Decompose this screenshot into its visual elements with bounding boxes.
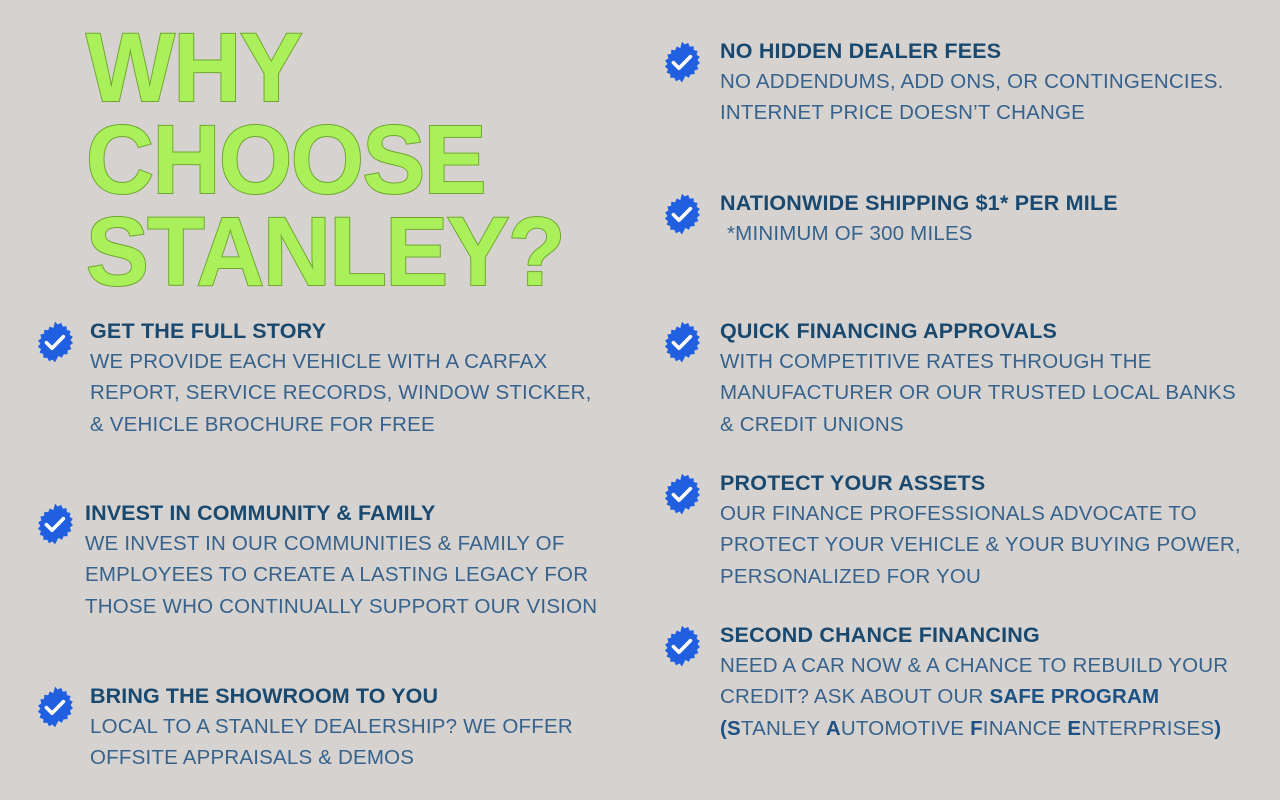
feature-nationwide-shipping: NATIONWIDE SHIPPING $1* PER MILE *MINIMU… — [660, 190, 1232, 249]
feature-heading: PROTECT YOUR ASSETS — [720, 470, 1250, 496]
feature-get-the-full-story: GET THE FULL STORY WE PROVIDE EACH VEHIC… — [33, 318, 603, 440]
feature-text: GET THE FULL STORY WE PROVIDE EACH VEHIC… — [77, 318, 603, 440]
feature-body: WE PROVIDE EACH VEHICLE WITH A CARFAX RE… — [90, 346, 603, 439]
feature-body-note: *MINIMUM OF 300 MILES — [720, 218, 973, 249]
page-title: WHY CHOOSE STANLEY? — [86, 22, 590, 298]
feature-text: NO HIDDEN DEALER FEES NO ADDENDUMS, ADD … — [704, 38, 1240, 129]
feature-heading: GET THE FULL STORY — [90, 318, 603, 344]
verified-check-badge-icon — [33, 320, 77, 364]
safe-acronym-text-3: INANCE — [983, 717, 1068, 740]
safe-acronym-text-1: TANLEY — [741, 717, 826, 740]
feature-text: NATIONWIDE SHIPPING $1* PER MILE *MINIMU… — [704, 190, 1232, 249]
feature-body: *MINIMUM OF 300 MILES — [720, 218, 1232, 249]
feature-quick-financing-approvals: QUICK FINANCING APPROVALS WITH COMPETITI… — [660, 318, 1250, 440]
headline-line-2: CHOOSE — [86, 114, 590, 206]
safe-acronym-part-5: ) — [1214, 717, 1221, 740]
feature-body: NO ADDENDUMS, ADD ONS, OR CONTINGENCIES.… — [720, 66, 1240, 128]
feature-text: QUICK FINANCING APPROVALS WITH COMPETITI… — [704, 318, 1250, 440]
feature-no-hidden-dealer-fees: NO HIDDEN DEALER FEES NO ADDENDUMS, ADD … — [660, 38, 1240, 129]
safe-acronym-text-4: NTERPRISES — [1081, 717, 1214, 740]
headline-line-3: STANLEY? — [86, 206, 590, 298]
feature-heading: QUICK FINANCING APPROVALS — [720, 318, 1250, 344]
feature-text: INVEST IN COMMUNITY & FAMILY WE INVEST I… — [77, 500, 603, 622]
feature-heading: INVEST IN COMMUNITY & FAMILY — [85, 500, 603, 526]
feature-body: OUR FINANCE PROFESSIONALS ADVOCATE TO PR… — [720, 498, 1250, 591]
verified-check-badge-icon — [660, 40, 704, 84]
feature-heading: NO HIDDEN DEALER FEES — [720, 38, 1240, 64]
safe-acronym-part-3: F — [970, 717, 983, 740]
feature-body: LOCAL TO A STANLEY DEALERSHIP? WE OFFER … — [85, 711, 603, 773]
feature-bring-the-showroom-to-you: BRING THE SHOWROOM TO YOU LOCAL TO A STA… — [33, 683, 603, 774]
verified-check-badge-icon — [33, 502, 77, 546]
feature-body: WITH COMPETITIVE RATES THROUGH THE MANUF… — [720, 346, 1250, 439]
feature-invest-in-community-and-family: INVEST IN COMMUNITY & FAMILY WE INVEST I… — [33, 500, 603, 622]
headline-line-1: WHY — [86, 22, 590, 114]
feature-protect-your-assets: PROTECT YOUR ASSETS OUR FINANCE PROFESSI… — [660, 470, 1250, 592]
verified-check-badge-icon — [660, 320, 704, 364]
promo-graphic: WHY CHOOSE STANLEY? GET THE FULL STORY W… — [0, 0, 1280, 800]
feature-heading: SECOND CHANCE FINANCING — [720, 622, 1250, 648]
feature-body: WE INVEST IN OUR COMMUNITIES & FAMILY OF… — [85, 528, 603, 621]
verified-check-badge-icon — [33, 685, 77, 729]
feature-second-chance-financing: SECOND CHANCE FINANCING NEED A CAR NOW &… — [660, 622, 1250, 744]
feature-heading: NATIONWIDE SHIPPING $1* PER MILE — [720, 190, 1232, 216]
safe-acronym-part-2: A — [826, 717, 841, 740]
feature-body: NEED A CAR NOW & A CHANCE TO REBUILD YOU… — [720, 650, 1250, 743]
feature-text: SECOND CHANCE FINANCING NEED A CAR NOW &… — [704, 622, 1250, 744]
feature-text: BRING THE SHOWROOM TO YOU LOCAL TO A STA… — [77, 683, 603, 774]
verified-check-badge-icon — [660, 624, 704, 668]
verified-check-badge-icon — [660, 192, 704, 236]
verified-check-badge-icon — [660, 472, 704, 516]
feature-text: PROTECT YOUR ASSETS OUR FINANCE PROFESSI… — [704, 470, 1250, 592]
safe-acronym-text-2: UTOMOTIVE — [841, 717, 970, 740]
feature-heading: BRING THE SHOWROOM TO YOU — [85, 683, 603, 709]
safe-acronym-part-4: E — [1067, 717, 1081, 740]
